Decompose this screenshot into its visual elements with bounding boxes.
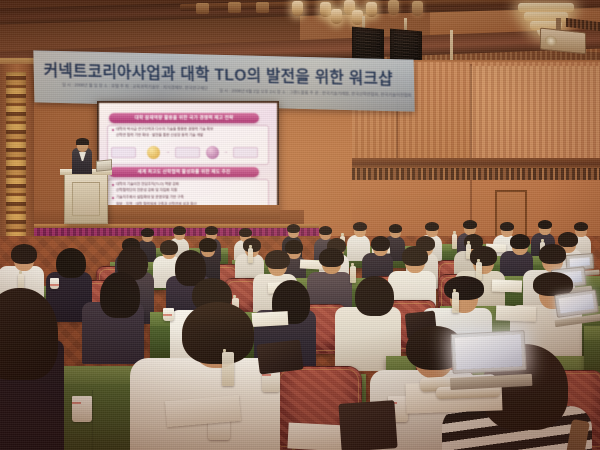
projector-lens-icon <box>545 35 557 46</box>
handout-document <box>496 305 536 321</box>
attendee-laptop[interactable] <box>451 330 528 390</box>
slide-section1-title: 대학 잠재역량 활용을 위한 국가 경쟁력 제고 전략 <box>109 113 259 123</box>
track-spotlight-icon <box>292 1 303 16</box>
slide-chip <box>175 147 200 158</box>
water-bottle <box>476 262 482 280</box>
handout-document <box>252 311 289 327</box>
slide-icon-gold <box>147 146 160 159</box>
slide-bullet-text: 대학의 박사급 연구인력과 다수의 기술을 활용한 경쟁력 기술 확보 <box>116 127 213 131</box>
presenter-laptop <box>96 159 112 172</box>
track-spotlight-icon <box>256 2 269 13</box>
slide-chip <box>111 147 136 158</box>
slide-section1-header: 대학 잠재역량 활용을 위한 국가 경쟁력 제고 전략 <box>109 113 259 123</box>
paper-cup <box>50 278 59 289</box>
track-spotlight-icon <box>320 2 331 17</box>
slide-section2-title: 세계 최고도 산학협력 활성화를 위한 제도 추진 <box>109 167 259 177</box>
track-spotlight-icon <box>196 3 209 14</box>
track-spotlight-icon <box>331 9 342 24</box>
projection-screen: 대학 잠재역량 활용을 위한 국가 경쟁력 제고 전략 대학의 박사급 연구인력… <box>99 103 277 217</box>
wall-seam <box>470 64 472 160</box>
green-draped-table <box>584 326 600 372</box>
stage-floor <box>100 205 280 219</box>
conference-hall-photo: 커넥트코리아사업과 대학 TLO의 발전을 위한 워크샵 일 시 : 2008년… <box>0 0 600 450</box>
water-bottle <box>222 352 234 386</box>
projection-screen-frame: 대학 잠재역량 활용을 위한 국가 경쟁력 제고 전략 대학의 박사급 연구인력… <box>97 101 279 219</box>
slide-bullet-text: 대학의 기술이전 전담조직(TLO) 역량 강화 <box>116 182 179 186</box>
slide-bullet-text: 산학연 협력 기반 확대 · 발전을 통한 신성장 동력 기술 개발 <box>116 133 203 137</box>
track-spotlight-icon <box>366 2 377 17</box>
lectern-front-panel <box>72 182 100 216</box>
shoulder-bag <box>338 400 397 450</box>
slide-chip <box>233 147 258 158</box>
handout-document <box>492 279 522 292</box>
slide-icon-purple <box>206 146 219 159</box>
paper-cup <box>72 396 92 422</box>
presenter-hair <box>76 138 89 145</box>
slide-bullet-text: 산학협력단의 전문성 강화 및 자립화 지원 <box>116 188 177 192</box>
paper-cup <box>163 308 174 321</box>
ceiling-projector <box>540 28 586 55</box>
water-bottle <box>452 292 459 313</box>
fretwork-trim <box>352 168 600 180</box>
water-bottle <box>350 266 356 283</box>
track-spotlight-icon <box>388 0 399 15</box>
slide-bullet-text: 기술지주회사 설립확대 및 운영모델 기반 구축 <box>116 195 184 199</box>
track-spotlight-icon <box>412 1 423 16</box>
slide-section2-header: 세계 최고도 산학협력 활성화를 위한 제도 추진 <box>109 167 259 177</box>
water-bottle <box>452 234 457 249</box>
water-bottle <box>248 248 253 263</box>
track-spotlight-icon <box>228 2 241 13</box>
shoulder-bag <box>256 339 303 374</box>
attendee-laptop[interactable] <box>554 289 600 327</box>
